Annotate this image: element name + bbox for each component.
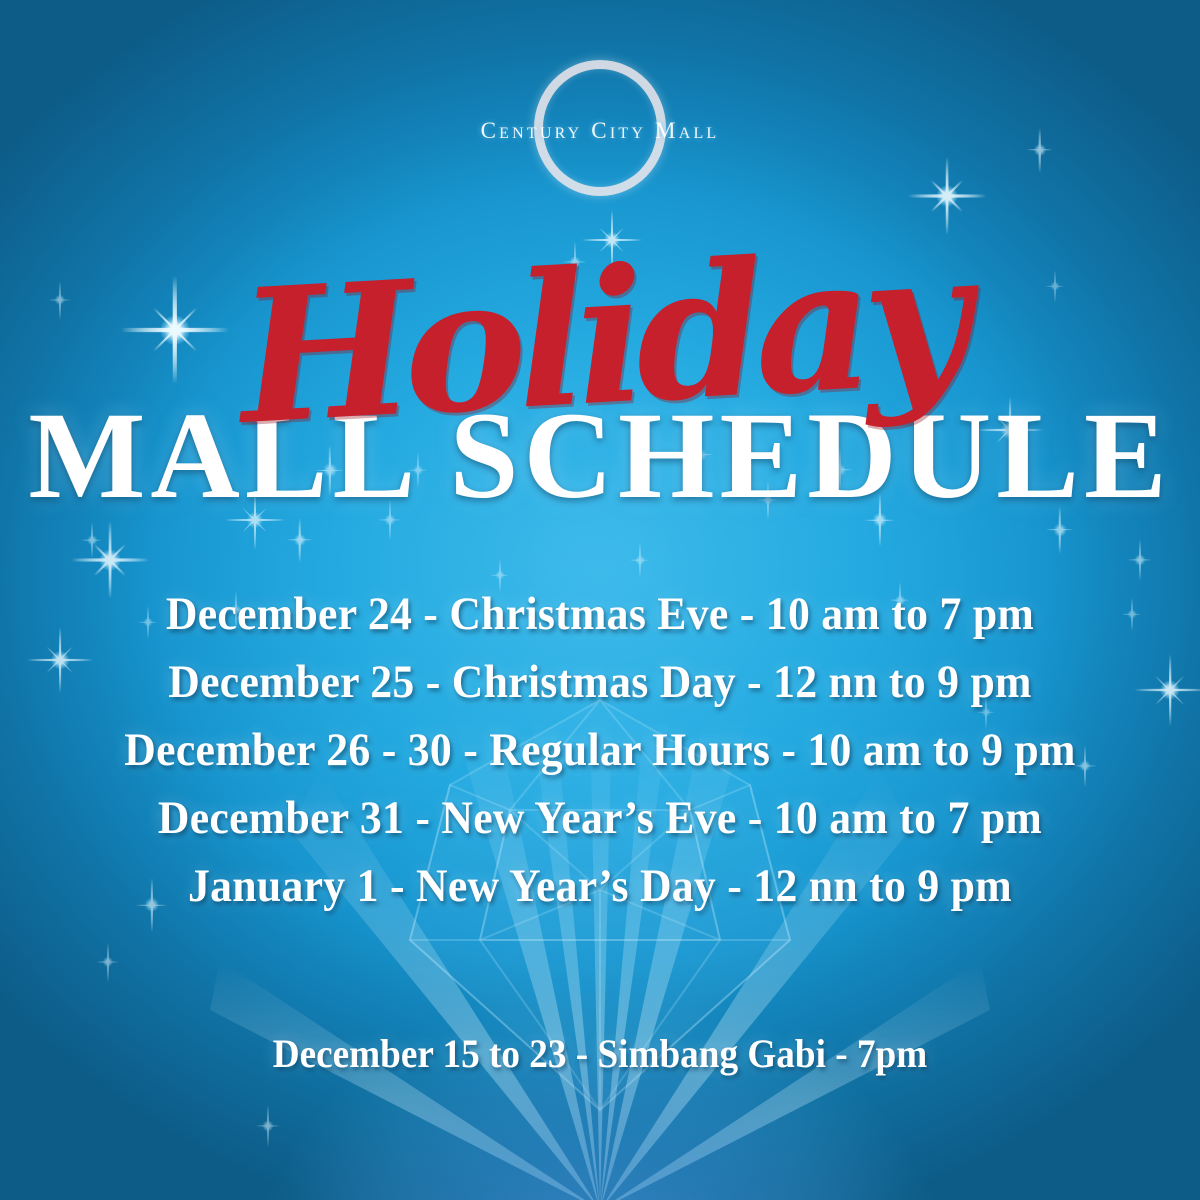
brand-logo: Century City Mall <box>450 60 750 210</box>
schedule-list: December 24 - Christmas Eve - 10 am to 7… <box>0 580 1200 920</box>
simbang-gabi-note: December 15 to 23 - Simbang Gabi - 7pm <box>42 1026 1158 1082</box>
brand-name: Century City Mall <box>481 118 720 144</box>
title-block: Holiday MALL SCHEDULE <box>0 246 1200 526</box>
schedule-line: January 1 - New Year’s Day - 12 nn to 9 … <box>42 852 1158 920</box>
schedule-line: December 24 - Christmas Eve - 10 am to 7… <box>42 580 1158 648</box>
schedule-line: December 26 - 30 - Regular Hours - 10 am… <box>42 716 1158 784</box>
schedule-line: December 25 - Christmas Day - 12 nn to 9… <box>42 648 1158 716</box>
poster-canvas: Century City Mall Holiday MALL SCHEDULE … <box>0 0 1200 1200</box>
schedule-line: December 31 - New Year’s Eve - 10 am to … <box>42 784 1158 852</box>
holiday-script-word: Holiday <box>235 226 965 450</box>
